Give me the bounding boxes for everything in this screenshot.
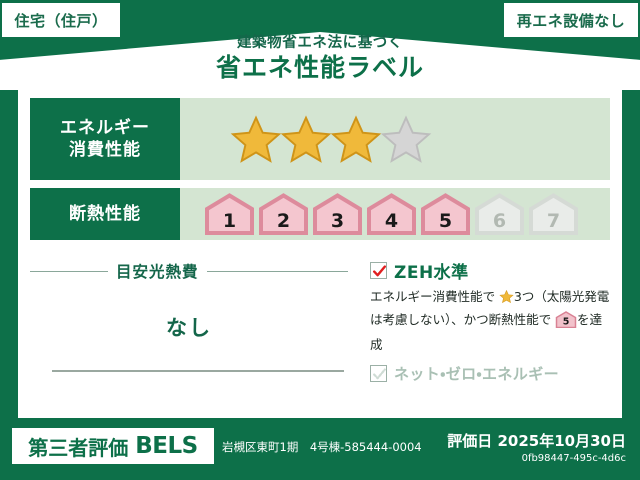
label-body-panel: エネルギー 消費性能 断熱性能 1234567 目安光熱費 — [18, 88, 622, 418]
bels-logo-jp: 第三者評価 — [28, 432, 128, 461]
check-icon-disabled — [370, 365, 387, 382]
star-icon-empty — [380, 113, 432, 165]
building-type-badge: 住宅（住戸） — [2, 3, 120, 37]
net-zero-energy-title: ネット・ゼロ・エネルギー — [394, 363, 559, 384]
energy-performance-label-line2: 消費性能 — [69, 139, 141, 161]
zeh-desc-part1: エネルギー消費性能で — [370, 289, 495, 304]
insulation-level-house-3: 3 — [312, 193, 363, 235]
bels-logo-en: BELS — [135, 433, 197, 459]
energy-performance-label: 住宅（住戸） 再エネ設備なし 建築物省エネ法に基づく 省エネ性能ラベル エネルギ… — [0, 0, 640, 480]
utility-cost-header: 目安光熱費 — [30, 260, 348, 282]
energy-performance-label-box: エネルギー 消費性能 — [30, 98, 180, 180]
insulation-level-value: 2 — [258, 212, 309, 231]
star-icon-filled — [330, 113, 382, 165]
utility-cost-value: なし — [30, 312, 348, 342]
insulation-level-value: 4 — [366, 212, 417, 231]
utility-cost-title: 目安光熱費 — [116, 260, 199, 282]
bels-logo-plate: 第三者評価 BELS — [12, 428, 214, 464]
insulation-performance-row: 断熱性能 1234567 — [30, 188, 610, 240]
insulation-level-house-2: 2 — [258, 193, 309, 235]
energy-performance-label-line1: エネルギー — [60, 117, 150, 139]
evaluation-id: 0fb98447-495c-4d6c — [447, 453, 626, 464]
energy-performance-row: エネルギー 消費性能 — [30, 98, 610, 180]
zeh-desc-part2: は考慮しない）、かつ断熱性能で — [370, 312, 551, 327]
star-icon-filled — [280, 113, 332, 165]
insulation-level-value: 6 — [474, 212, 525, 231]
insulation-level-scale: 1234567 — [180, 188, 610, 240]
divider-right — [207, 271, 348, 272]
insulation-performance-label-box: 断熱性能 — [30, 188, 180, 240]
label-title-block: 建築物省エネ法に基づく 省エネ性能ラベル — [0, 36, 640, 83]
divider-left — [30, 271, 108, 272]
zeh-standard-description: エネルギー消費性能で 3つ（太陽光発電 は考慮しない）、かつ断熱性能で 5 を達… — [370, 287, 610, 355]
building-type-badge-label: 住宅（住戸） — [14, 10, 107, 31]
star-rating — [180, 98, 610, 180]
label-lower-section: 目安光熱費 なし ZEH水準 エネルギー消費性能で — [30, 250, 610, 408]
evaluation-date-label: 評価日 — [447, 432, 492, 450]
svg-text:5: 5 — [563, 317, 570, 328]
check-icon — [370, 262, 387, 279]
insulation-level-house-6: 6 — [474, 193, 525, 235]
insulation-level-house-4: 4 — [366, 193, 417, 235]
insulation-level-value: 3 — [312, 212, 363, 231]
zeh-standard-title: ZEH水準 — [394, 258, 469, 283]
insulation-level-house-1: 1 — [204, 193, 255, 235]
renewable-equipment-badge: 再エネ設備なし — [504, 3, 638, 37]
utility-cost-bottom-divider — [52, 370, 344, 372]
net-zero-energy-option: ネット・ゼロ・エネルギー — [370, 363, 610, 384]
house-icon-inline: 5 — [555, 311, 577, 334]
zeh-desc-star-count: 3つ（太陽光発電 — [514, 289, 609, 304]
evaluation-date: 評価日 2025年10月30日 — [447, 430, 626, 451]
insulation-level-value: 7 — [528, 212, 579, 231]
evaluation-date-value: 2025年10月30日 — [498, 432, 627, 450]
insulation-level-house-5: 5 — [420, 193, 471, 235]
utility-cost-column: 目安光熱費 なし — [30, 250, 348, 408]
zeh-column: ZEH水準 エネルギー消費性能で 3つ（太陽光発電 は考慮しない）、かつ断熱性能… — [348, 250, 610, 408]
star-icon-inline — [499, 289, 514, 310]
label-title: 省エネ性能ラベル — [0, 53, 640, 84]
insulation-level-house-7: 7 — [528, 193, 579, 235]
evaluation-info: 評価日 2025年10月30日 0fb98447-495c-4d6c — [447, 430, 626, 464]
label-subtitle: 建築物省エネ法に基づく — [0, 36, 640, 52]
insulation-house-strip: 1234567 — [204, 193, 582, 235]
insulation-performance-label: 断熱性能 — [69, 203, 141, 225]
building-info: 岩槻区東町1期 4号棟-585444-0004 — [222, 439, 422, 455]
star-icon-filled — [230, 113, 282, 165]
renewable-equipment-badge-label: 再エネ設備なし — [517, 10, 626, 31]
zeh-standard-option: ZEH水準 — [370, 258, 610, 283]
insulation-level-value: 5 — [420, 212, 471, 231]
insulation-level-value: 1 — [204, 212, 255, 231]
label-footer: 第三者評価 BELS 岩槻区東町1期 4号棟-585444-0004 評価日 2… — [0, 424, 640, 480]
